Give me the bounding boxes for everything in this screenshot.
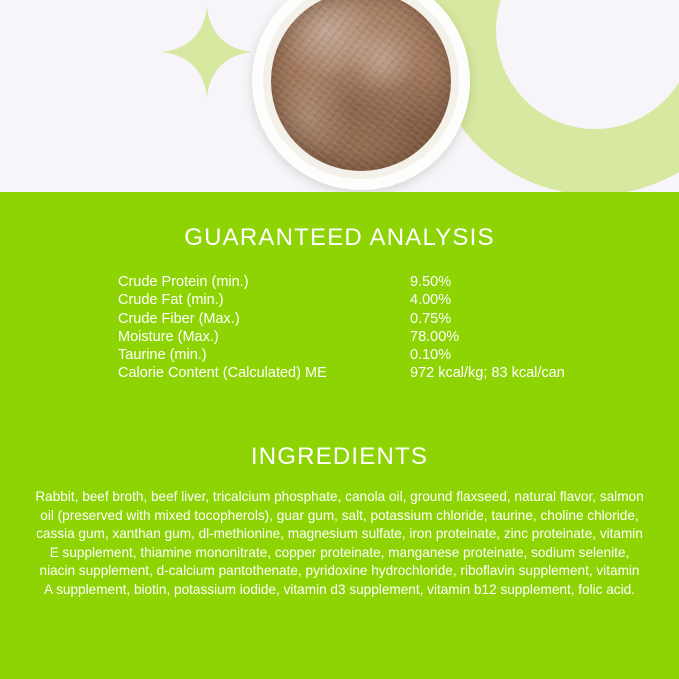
table-row: Moisture (Max.) 78.00%: [118, 328, 618, 346]
analysis-label: Crude Fat (min.): [118, 291, 410, 309]
table-row: Calorie Content (Calculated) ME 972 kcal…: [118, 364, 618, 382]
table-row: Crude Fat (min.) 4.00%: [118, 291, 618, 309]
analysis-label: Crude Fiber (Max.): [118, 310, 410, 328]
analysis-label: Taurine (min.): [118, 346, 410, 364]
analysis-value: 4.00%: [410, 291, 618, 309]
analysis-label: Calorie Content (Calculated) ME: [118, 364, 410, 382]
analysis-value: 0.75%: [410, 310, 618, 328]
analysis-label: Moisture (Max.): [118, 328, 410, 346]
ingredients-body-text: Rabbit, beef broth, beef liver, tricalci…: [34, 488, 645, 600]
analysis-value: 972 kcal/kg; 83 kcal/can: [410, 364, 618, 382]
guaranteed-analysis-table: Crude Protein (min.) 9.50% Crude Fat (mi…: [118, 273, 618, 383]
analysis-value: 9.50%: [410, 273, 618, 291]
hero-image-area: [0, 0, 679, 192]
analysis-label: Crude Protein (min.): [118, 273, 410, 291]
ingredients-heading: INGREDIENTS: [0, 443, 679, 471]
guaranteed-analysis-heading: GUARANTEED ANALYSIS: [0, 224, 679, 252]
analysis-value: 0.10%: [410, 346, 618, 364]
product-label-card: GUARANTEED ANALYSIS Crude Protein (min.)…: [0, 0, 679, 679]
product-bowl-image: [252, 0, 470, 190]
four-point-sparkle-icon: [161, 6, 253, 98]
analysis-value: 78.00%: [410, 328, 618, 346]
table-row: Crude Fiber (Max.) 0.75%: [118, 310, 618, 328]
table-row: Crude Protein (min.) 9.50%: [118, 273, 618, 291]
nutrition-panel: GUARANTEED ANALYSIS Crude Protein (min.)…: [0, 192, 679, 679]
table-row: Taurine (min.) 0.10%: [118, 346, 618, 364]
